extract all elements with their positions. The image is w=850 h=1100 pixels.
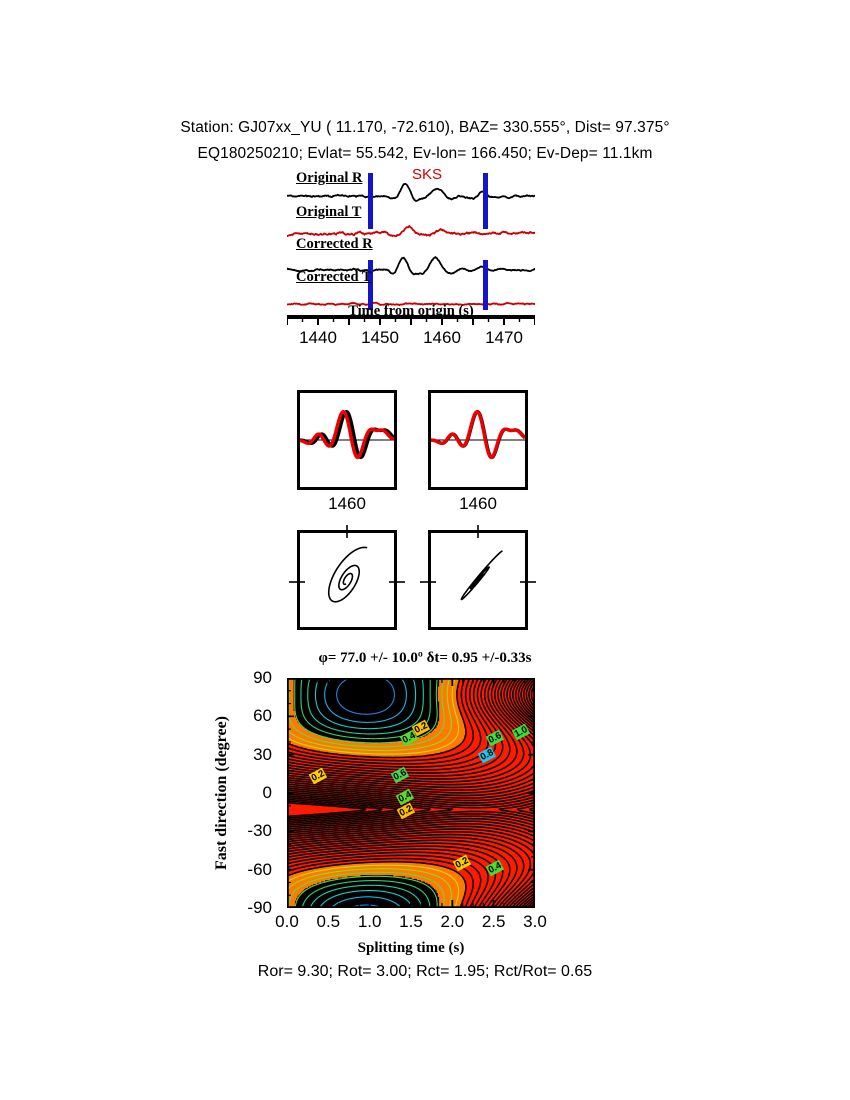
trace-label-original-t: Original T xyxy=(296,204,361,221)
hodogram-axis-ticks xyxy=(285,525,540,637)
waveform-compare-panel-corrected xyxy=(428,390,528,490)
time-axis-ticklabels: 1440145014601470 xyxy=(262,328,562,354)
time-axis xyxy=(287,312,535,326)
contour-x-tick-label: 2.0 xyxy=(441,912,465,932)
time-tick-label: 1460 xyxy=(423,328,461,348)
splitting-result-title: φ= 77.0 +/- 10.0º δt= 0.95 +/-0.33s xyxy=(205,650,645,667)
energy-contour-plot xyxy=(287,678,535,908)
waveform-panel-left-tick: 1460 xyxy=(297,494,397,514)
contour-y-tick-label: -60 xyxy=(247,860,272,880)
contour-x-tick-label: 1.0 xyxy=(358,912,382,932)
station-info-line: Station: GJ07xx_YU ( 11.170, -72.610), B… xyxy=(0,119,850,137)
trace-label-original-r: Original R xyxy=(296,170,362,187)
contour-y-tick-label: -30 xyxy=(247,821,272,841)
contour-x-tick-label: 0.0 xyxy=(275,912,299,932)
contour-x-tick-label: 3.0 xyxy=(523,912,547,932)
waveform-panel-right-tick: 1460 xyxy=(428,494,528,514)
contour-y-tick-label: 90 xyxy=(253,668,272,688)
waveform-compare-panel-uncorrected xyxy=(297,390,397,490)
contour-x-tick-label: 1.5 xyxy=(399,912,423,932)
contour-y-tick-label: 0 xyxy=(263,783,272,803)
time-tick-label: 1440 xyxy=(299,328,337,348)
contour-x-tick-label: 0.5 xyxy=(317,912,341,932)
trace-label-corrected-t: Corrected T xyxy=(296,269,372,286)
contour-y-tick-label: 60 xyxy=(253,706,272,726)
contour-x-ticklabels: 0.00.51.01.52.02.53.0 xyxy=(267,912,557,936)
time-tick-label: 1470 xyxy=(485,328,523,348)
sks-phase-label: SKS xyxy=(412,166,442,183)
event-info-line: EQ180250210; Evlat= 55.542, Ev-lon= 166.… xyxy=(0,145,850,163)
contour-y-tick-label: 30 xyxy=(253,745,272,765)
contour-x-axis-title: Splitting time (s) xyxy=(287,940,535,957)
quality-stats-line: Ror= 9.30; Rot= 3.00; Rct= 1.95; Rct/Rot… xyxy=(0,963,850,981)
time-tick-label: 1450 xyxy=(361,328,399,348)
contour-x-tick-label: 2.5 xyxy=(482,912,506,932)
contour-y-axis-title: Fast direction (degree) xyxy=(213,716,231,870)
trace-label-corrected-r: Corrected R xyxy=(296,236,373,253)
